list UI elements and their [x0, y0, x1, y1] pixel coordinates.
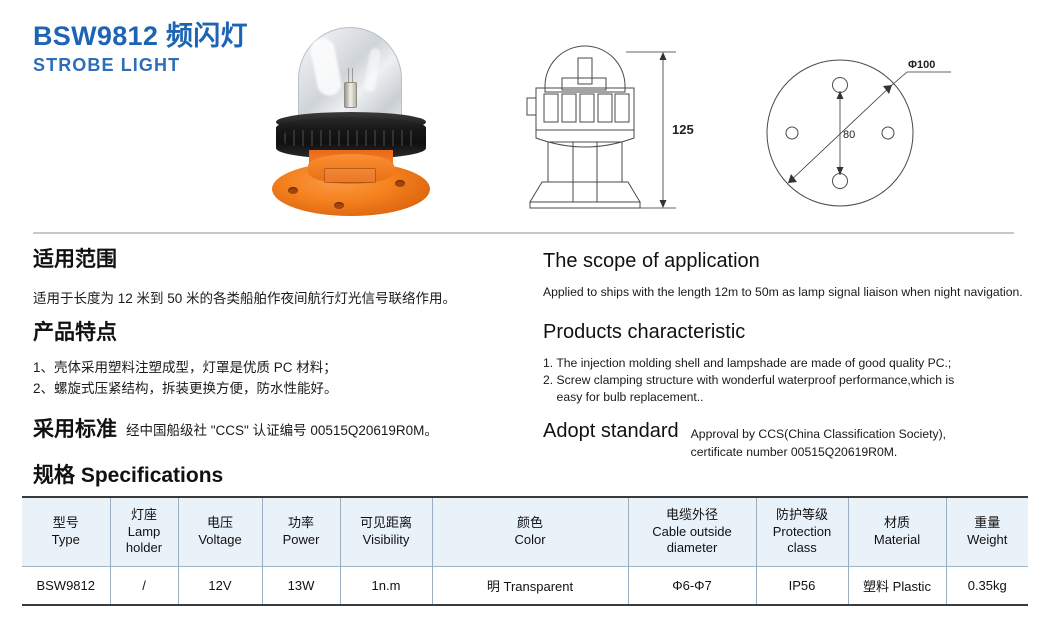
cell-voltage: 12V [178, 566, 262, 605]
characteristics-heading-en: Products characteristic [543, 319, 1023, 345]
scope-body-cn: 适用于长度为 12 米到 50 米的各类船舶作夜间航行灯光信号联络作用。 [33, 288, 533, 309]
col-header-material-cn: 材质 [852, 515, 943, 532]
specifications-heading: 规格 Specifications [33, 459, 223, 489]
standard-heading-en: Adopt standard [543, 420, 679, 443]
bolt-spacing-label: 80 [843, 129, 855, 141]
title-block: BSW9812 频闪灯 STROBE LIGHT [33, 20, 248, 76]
characteristics-item-en: 1. The injection molding shell and lamps… [543, 355, 1023, 372]
mounting-hole-bottom [833, 174, 848, 189]
col-header-lamp-holder-cn: 灯座 [114, 507, 175, 524]
side-view-height-label: 125 [672, 122, 694, 137]
col-header-power-cn: 功率 [266, 515, 337, 532]
content-column-chinese: 适用范围 适用于长度为 12 米到 50 米的各类船舶作夜间航行灯光信号联络作用… [33, 246, 533, 443]
col-header-power: 功率 Power [262, 497, 340, 566]
col-header-type-cn: 型号 [25, 515, 107, 532]
top-view-diameter-label: Φ100 [908, 59, 935, 71]
drawing-side-view: 125 [500, 30, 700, 225]
col-header-visibility-en: Visibility [344, 532, 429, 549]
cell-color: 明 Transparent [432, 566, 628, 605]
dome-outline [545, 46, 625, 92]
mounting-hole [395, 180, 405, 187]
characteristics-item-en: 2. Screw clamping structure with wonderf… [543, 372, 1023, 389]
table-header-row: 型号 Type 灯座 Lamp holder 电压 Voltage 功率 Pow… [22, 497, 1028, 566]
col-header-material: 材质 Material [848, 497, 946, 566]
col-header-weight-en: Weight [950, 532, 1026, 549]
col-header-weight: 重量 Weight [946, 497, 1028, 566]
col-header-visibility-cn: 可见距离 [344, 515, 429, 532]
col-header-color: 颜色 Color [432, 497, 628, 566]
col-header-material-en: Material [852, 532, 943, 549]
scope-heading-en: The scope of application [543, 248, 1023, 274]
page-title-en: STROBE LIGHT [33, 54, 248, 76]
specifications-table: 型号 Type 灯座 Lamp holder 电压 Voltage 功率 Pow… [22, 496, 1028, 606]
standard-body-en-line1: Approval by CCS(China Classification Soc… [691, 425, 946, 443]
content-column-english: The scope of application Applied to ship… [543, 248, 1023, 461]
drawing-top-view: 80 Φ100 [755, 38, 985, 228]
col-header-voltage-en: Voltage [182, 532, 259, 549]
col-header-voltage: 电压 Voltage [178, 497, 262, 566]
col-header-weight-cn: 重量 [950, 515, 1026, 532]
col-header-voltage-cn: 电压 [182, 515, 259, 532]
col-header-color-cn: 颜色 [436, 515, 625, 532]
col-header-lamp-holder-en: Lamp holder [114, 524, 175, 557]
standard-body-en-line2: certificate number 00515Q20619R0M. [691, 443, 946, 461]
mounting-hole-right [882, 127, 894, 139]
page-header: BSW9812 频闪灯 STROBE LIGHT [0, 0, 1047, 232]
datasheet-page: BSW9812 频闪灯 STROBE LIGHT [0, 0, 1047, 621]
standard-row-en: Adopt standard Approval by CCS(China Cla… [543, 420, 1023, 461]
mounting-hole [288, 187, 298, 194]
cell-protection-class: IP56 [756, 566, 848, 605]
standard-row-cn: 采用标准 经中国船级社 "CCS" 认证编号 00515Q20619R0M。 [33, 413, 533, 443]
col-header-cable-diameter-en: Cable outside diameter [632, 524, 753, 557]
mounting-hole [334, 202, 344, 209]
lamp-bulb [344, 82, 357, 108]
table-row: BSW9812 / 12V 13W 1n.m 明 Transparent Φ6-… [22, 566, 1028, 605]
scope-heading-cn: 适用范围 [33, 246, 533, 274]
col-header-lamp-holder: 灯座 Lamp holder [110, 497, 178, 566]
col-header-visibility: 可见距离 Visibility [340, 497, 432, 566]
mounting-hole-left [786, 127, 798, 139]
col-header-type-en: Type [25, 532, 107, 549]
base-embossed-label [324, 168, 376, 183]
mounting-hole-top [833, 78, 848, 93]
col-header-protection-class: 防护等级 Protection class [756, 497, 848, 566]
col-header-color-en: Color [436, 532, 625, 549]
standard-body-en: Approval by CCS(China Classification Soc… [679, 420, 946, 461]
col-header-protection-class-en: Protection class [760, 524, 845, 557]
page-title-cn: BSW9812 频闪灯 [33, 20, 248, 52]
col-header-cable-diameter-cn: 电缆外径 [632, 507, 753, 524]
cell-lamp-holder: / [110, 566, 178, 605]
cell-power: 13W [262, 566, 340, 605]
cell-material: 塑料 Plastic [848, 566, 946, 605]
col-header-type: 型号 Type [22, 497, 110, 566]
characteristics-item-en: easy for bulb replacement.. [543, 389, 1023, 406]
collar-knurling [284, 130, 418, 146]
cell-visibility: 1n.m [340, 566, 432, 605]
cell-cable-diameter: Φ6-Φ7 [628, 566, 756, 605]
product-photo [262, 22, 452, 227]
col-header-protection-class-cn: 防护等级 [760, 507, 845, 524]
characteristics-heading-cn: 产品特点 [33, 319, 533, 347]
characteristics-item-cn: 1、壳体采用塑料注塑成型，灯罩是优质 PC 材料； [33, 357, 533, 378]
standard-heading-cn: 采用标准 [33, 413, 117, 443]
cell-weight: 0.35kg [946, 566, 1028, 605]
cell-type: BSW9812 [22, 566, 110, 605]
section-divider [33, 232, 1014, 234]
col-header-cable-diameter: 电缆外径 Cable outside diameter [628, 497, 756, 566]
standard-body-cn: 经中国船级社 "CCS" 认证编号 00515Q20619R0M。 [117, 413, 438, 441]
col-header-power-en: Power [266, 532, 337, 549]
characteristics-item-cn: 2、螺旋式压紧结构，拆装更换方便，防水性能好。 [33, 378, 533, 399]
scope-body-en: Applied to ships with the length 12m to … [543, 284, 1023, 301]
